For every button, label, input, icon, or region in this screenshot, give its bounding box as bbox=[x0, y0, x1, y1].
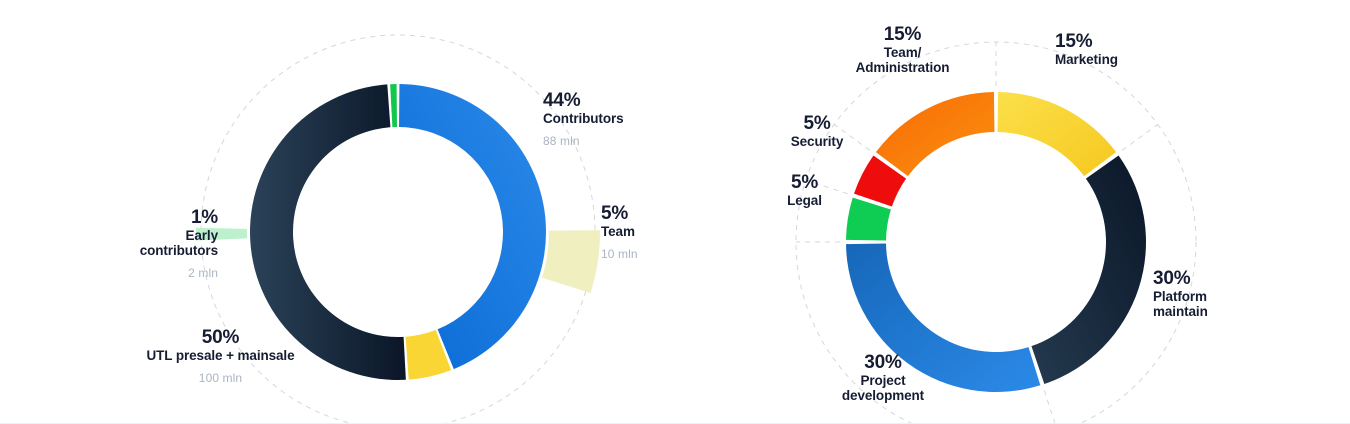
callout-legal-percent: 5% bbox=[757, 172, 852, 193]
callout-contributors-amount: 88 mln bbox=[543, 135, 703, 148]
callout-contributors-name: Contributors bbox=[543, 111, 703, 126]
callout-team-percent: 5% bbox=[601, 203, 711, 224]
donut-slice bbox=[1031, 156, 1146, 384]
callout-platform-maintain-name-line2: maintain bbox=[1153, 304, 1303, 319]
callout-early-contributors-name-line2: contributors bbox=[58, 243, 218, 258]
donut-slice bbox=[998, 92, 1117, 176]
callout-platform-maintain: 30% Platform maintain bbox=[1153, 268, 1303, 319]
infographic-canvas: 44% Contributors 88 mln 5% Team 10 mln 1… bbox=[0, 0, 1350, 424]
callout-marketing: 15% Marketing bbox=[1055, 31, 1205, 67]
callout-contributors-percent: 44% bbox=[543, 90, 703, 111]
callout-project-development-percent: 30% bbox=[812, 352, 954, 373]
callout-early-contributors-name-line1: Early bbox=[58, 228, 218, 243]
callout-team: 5% Team 10 mln bbox=[601, 203, 711, 262]
callout-platform-maintain-name-line1: Platform bbox=[1153, 289, 1303, 304]
callout-project-development-name-line1: Project bbox=[812, 373, 954, 388]
callout-security-name: Security bbox=[766, 134, 868, 149]
callout-platform-maintain-percent: 30% bbox=[1153, 268, 1303, 289]
callout-team-administration-name-line1: Team/ bbox=[820, 45, 985, 60]
callout-project-development: 30% Project development bbox=[812, 352, 954, 403]
callout-team-amount: 10 mln bbox=[601, 248, 711, 261]
callout-early-contributors: 1% Early contributors 2 mln bbox=[58, 207, 218, 281]
callout-early-contributors-amount: 2 mln bbox=[58, 267, 218, 280]
callout-early-contributors-percent: 1% bbox=[58, 207, 218, 228]
donut-slice bbox=[876, 92, 995, 176]
callout-contributors: 44% Contributors 88 mln bbox=[543, 90, 703, 149]
callout-marketing-percent: 15% bbox=[1055, 31, 1205, 52]
callout-presale-name: UTL presale + mainsale bbox=[118, 348, 323, 363]
callout-team-administration: 15% Team/ Administration bbox=[820, 24, 985, 75]
callout-presale-percent: 50% bbox=[118, 327, 323, 348]
donut-slice bbox=[390, 84, 397, 127]
callout-marketing-name: Marketing bbox=[1055, 52, 1205, 67]
callout-legal: 5% Legal bbox=[757, 172, 852, 208]
donut-slice bbox=[399, 84, 546, 369]
callout-presale-amount: 100 mln bbox=[118, 372, 323, 385]
guide-radial bbox=[1044, 390, 1058, 424]
guide-radial bbox=[1122, 124, 1158, 150]
leader-wedge-team bbox=[542, 230, 600, 293]
donut-slice bbox=[846, 198, 891, 241]
callout-legal-name: Legal bbox=[757, 193, 852, 208]
callout-project-development-name-line2: development bbox=[812, 388, 954, 403]
callout-security-percent: 5% bbox=[766, 113, 868, 134]
callout-team-administration-percent: 15% bbox=[820, 24, 985, 45]
callout-team-administration-name-line2: Administration bbox=[820, 60, 985, 75]
callout-security: 5% Security bbox=[766, 113, 868, 149]
callout-team-name: Team bbox=[601, 224, 711, 239]
callout-presale: 50% UTL presale + mainsale 100 mln bbox=[118, 327, 323, 386]
